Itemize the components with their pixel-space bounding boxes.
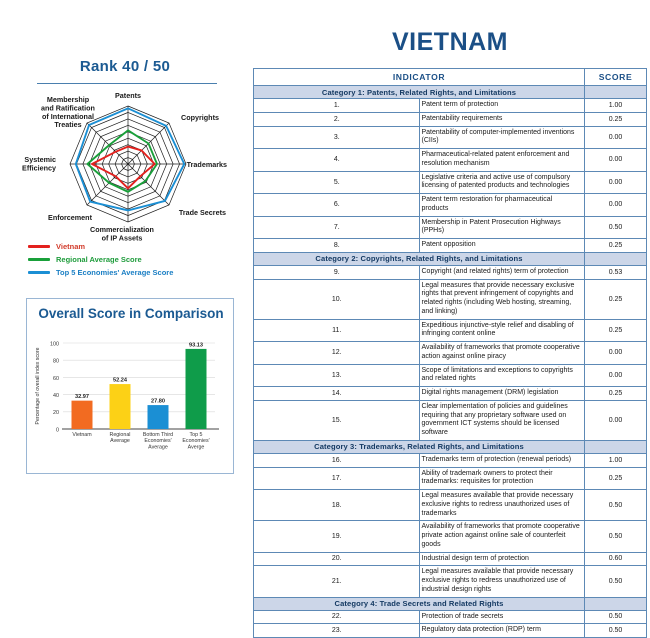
y-tick-label: 0 [56,427,59,433]
row-indicator: Scope of limitations and exceptions to c… [419,364,585,387]
y-tick-label: 40 [53,393,59,399]
row-indicator: Copyright (and related rights) term of p… [419,265,585,279]
y-tick-label: 80 [53,359,59,365]
row-number: 5. [254,171,420,194]
category-label: Category 2: Copyrights, Related Rights, … [254,252,585,265]
table-row: 18.Legal measures available that provide… [254,490,647,521]
row-score: 0.53 [585,265,647,279]
row-score: 0.25 [585,319,647,342]
row-indicator: Clear implementation of policies and gui… [419,400,585,440]
row-score: 0.50 [585,566,647,597]
row-number: 17. [254,467,420,490]
bar-2 [148,405,169,429]
row-number: 21. [254,566,420,597]
row-indicator: Pharmaceutical-related patent enforcemen… [419,149,585,172]
table-header-row: INDICATOR SCORE [254,69,647,86]
radar-label-copyrights: Copyrights [181,113,219,122]
row-indicator: Digital rights management (DRM) legislat… [419,387,585,401]
category-row: Category 3: Trademarks, Related Rights, … [254,440,647,453]
table-row: 13.Scope of limitations and exceptions t… [254,364,647,387]
bar-value-label-3: 93.13 [189,342,203,348]
row-number: 23. [254,624,420,638]
row-indicator: Availability of frameworks that promote … [419,342,585,365]
category-label: Category 4: Trade Secrets and Related Ri… [254,597,585,610]
table-row: 4.Pharmaceutical-related patent enforcem… [254,149,647,172]
row-score: 0.50 [585,216,647,239]
row-number: 19. [254,521,420,552]
row-score: 0.00 [585,400,647,440]
table-row: 10.Legal measures that provide necessary… [254,279,647,319]
row-indicator: Regulatory data protection (RDP) term [419,624,585,638]
row-score: 0.25 [585,239,647,253]
row-score: 0.00 [585,149,647,172]
row-indicator: Expeditious injunctive-style relief and … [419,319,585,342]
row-score: 1.00 [585,99,647,113]
row-number: 7. [254,216,420,239]
row-number: 3. [254,126,420,149]
x-category-label-2: Bottom ThirdEconomies'Average [143,432,173,450]
row-score: 1.00 [585,453,647,467]
row-score: 0.50 [585,610,647,624]
indicator-table-body: Category 1: Patents, Related Rights, and… [254,86,647,638]
row-number: 20. [254,552,420,566]
row-score: 0.25 [585,467,647,490]
bar-0 [72,401,93,429]
x-category-label-0: Vietnam [72,432,92,438]
overall-score-panel: Overall Score in Comparison 020406080100… [26,298,234,474]
row-number: 14. [254,387,420,401]
table-row: 11.Expeditious injunctive-style relief a… [254,319,647,342]
row-number: 10. [254,279,420,319]
row-indicator: Availability of frameworks that promote … [419,521,585,552]
row-score: 0.50 [585,490,647,521]
row-indicator: Legal measures that provide necessary ex… [419,279,585,319]
row-number: 2. [254,112,420,126]
column-header-score: SCORE [585,69,647,86]
legend-label-vietnam: Vietnam [56,242,85,251]
category-score-blank [585,440,647,453]
category-score-blank [585,597,647,610]
row-score: 0.50 [585,624,647,638]
row-number: 4. [254,149,420,172]
table-row: 15.Clear implementation of policies and … [254,400,647,440]
category-score-blank [585,252,647,265]
legend-swatch-regional [28,258,50,261]
bar-value-label-1: 52.24 [113,377,128,383]
row-score: 0.25 [585,279,647,319]
indicator-table: INDICATOR SCORE Category 1: Patents, Rel… [253,68,647,638]
x-category-label-3: Top 5Economies'Averge [182,432,209,450]
table-row: 23.Regulatory data protection (RDP) term… [254,624,647,638]
legend-item-vietnam: Vietnam [28,240,238,252]
table-row: 5.Legislative criteria and active use of… [254,171,647,194]
row-score: 0.25 [585,387,647,401]
legend-item-regional: Regional Average Score [28,253,238,265]
row-score: 0.00 [585,342,647,365]
legend-label-regional: Regional Average Score [56,255,142,264]
page-title: VIETNAM [253,28,647,57]
row-score: 0.50 [585,521,647,552]
row-number: 9. [254,265,420,279]
category-row: Category 1: Patents, Related Rights, and… [254,86,647,99]
bar-chart-title: Overall Score in Comparison [27,306,235,321]
x-category-label-1: RegionalAverage [110,432,131,444]
row-number: 15. [254,400,420,440]
legend-item-top5: Top 5 Economies' Average Score [28,266,238,278]
row-number: 8. [254,239,420,253]
left-panel: Rank 40 / 50 PatentsCopyrightsTrademarks… [0,0,250,482]
radar-label-systemic-efficiency: SystemicEfficiency [22,155,56,172]
row-indicator: Legislative criteria and active use of c… [419,171,585,194]
category-row: Category 4: Trade Secrets and Related Ri… [254,597,647,610]
row-indicator: Patent term of protection [419,99,585,113]
y-tick-label: 20 [53,410,59,416]
table-row: 6.Patent term restoration for pharmaceut… [254,194,647,217]
column-header-indicator: INDICATOR [254,69,585,86]
table-row: 7.Membership in Patent Prosecution Highw… [254,216,647,239]
radar-chart-svg: PatentsCopyrightsTrademarksTrade Secrets… [22,86,234,246]
table-row: 8.Patent opposition0.25 [254,239,647,253]
indicator-table-wrapper: INDICATOR SCORE Category 1: Patents, Rel… [253,68,647,638]
rank-divider [37,83,217,84]
radar-chart: PatentsCopyrightsTrademarksTrade Secrets… [22,86,234,246]
row-number: 6. [254,194,420,217]
bar-chart-svg: 020406080100Percentage of overall index … [27,325,235,473]
row-indicator: Ability of trademark owners to protect t… [419,467,585,490]
table-row: 12.Availability of frameworks that promo… [254,342,647,365]
category-label: Category 1: Patents, Related Rights, and… [254,86,585,99]
row-number: 13. [254,364,420,387]
category-label: Category 3: Trademarks, Related Rights, … [254,440,585,453]
legend-swatch-top5 [28,271,50,274]
row-indicator: Patentability of computer-implemented in… [419,126,585,149]
table-row: 22.Protection of trade secrets0.50 [254,610,647,624]
radar-label-trademarks: Trademarks [187,160,227,169]
row-score: 0.25 [585,112,647,126]
row-number: 12. [254,342,420,365]
row-indicator: Protection of trade secrets [419,610,585,624]
category-row: Category 2: Copyrights, Related Rights, … [254,252,647,265]
row-indicator: Legal measures available that provide ne… [419,566,585,597]
bar-1 [110,384,131,429]
row-score: 0.00 [585,126,647,149]
row-number: 22. [254,610,420,624]
row-indicator: Trademarks term of protection (renewal p… [419,453,585,467]
bar-value-label-0: 32.97 [75,394,89,400]
y-tick-label: 100 [50,341,59,347]
row-indicator: Industrial design term of protection [419,552,585,566]
row-score: 0.60 [585,552,647,566]
rank-title: Rank 40 / 50 [0,58,250,75]
row-indicator: Patent term restoration for pharmaceutic… [419,194,585,217]
row-score: 0.00 [585,194,647,217]
table-row: 9.Copyright (and related rights) term of… [254,265,647,279]
radar-label-patents: Patents [115,91,141,100]
legend-swatch-vietnam [28,245,50,248]
row-indicator: Patent opposition [419,239,585,253]
table-row: 16.Trademarks term of protection (renewa… [254,453,647,467]
table-row: 3.Patentability of computer-implemented … [254,126,647,149]
radar-label-enforcement: Enforcement [48,213,93,222]
row-number: 1. [254,99,420,113]
bar-value-label-2: 27.80 [151,398,165,404]
row-indicator: Legal measures available that provide ne… [419,490,585,521]
table-row: 2.Patentability requirements0.25 [254,112,647,126]
row-number: 11. [254,319,420,342]
row-number: 16. [254,453,420,467]
country-profile-page: Rank 40 / 50 PatentsCopyrightsTrademarks… [0,0,650,482]
table-row: 1.Patent term of protection1.00 [254,99,647,113]
table-row: 14.Digital rights management (DRM) legis… [254,387,647,401]
table-row: 20.Industrial design term of protection0… [254,552,647,566]
row-number: 18. [254,490,420,521]
table-row: 19.Availability of frameworks that promo… [254,521,647,552]
row-score: 0.00 [585,364,647,387]
y-axis-title: Percentage of overall index score [35,347,41,424]
row-score: 0.00 [585,171,647,194]
table-row: 17.Ability of trademark owners to protec… [254,467,647,490]
category-score-blank [585,86,647,99]
row-indicator: Patentability requirements [419,112,585,126]
radar-label-trade-secrets: Trade Secrets [179,208,226,217]
bar-3 [186,349,207,429]
row-indicator: Membership in Patent Prosecution Highway… [419,216,585,239]
radar-legend: Vietnam Regional Average Score Top 5 Eco… [28,240,238,279]
y-tick-label: 60 [53,376,59,382]
legend-label-top5: Top 5 Economies' Average Score [56,268,173,277]
table-row: 21.Legal measures available that provide… [254,566,647,597]
